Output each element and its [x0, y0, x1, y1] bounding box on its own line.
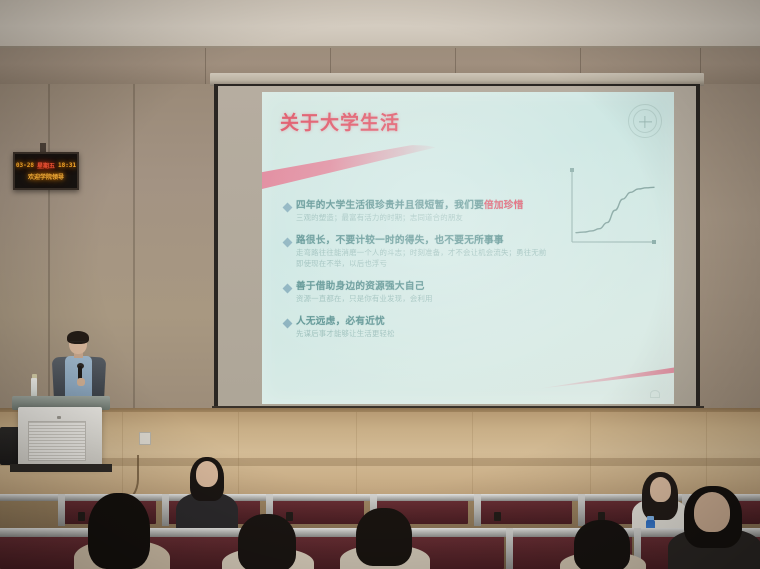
- diamond-bullet-icon: [283, 238, 293, 248]
- bullet-sub-text: 先谋后事才能够让生活更轻松: [296, 329, 552, 339]
- bullet-main-text: 人无远虑，必有近忧: [296, 316, 385, 329]
- led-sign-line-1: 03-28 星期五 18:31: [16, 161, 76, 170]
- seat-rail-post: [578, 494, 585, 526]
- seat-knob: [78, 512, 85, 521]
- diamond-bullet-icon: [283, 284, 293, 294]
- audience-head: [196, 461, 218, 487]
- right-wall-panel: [700, 84, 760, 414]
- seat-rail-post: [58, 494, 65, 526]
- audience-hair: [238, 514, 296, 569]
- pink-swoosh-decoration-bottom: [534, 363, 674, 389]
- presenter-glasses: [70, 341, 86, 345]
- bullet-sub-text: 资源一直都在，只是你有业发现，会利用: [296, 294, 552, 304]
- wall-panel-seam: [133, 84, 135, 414]
- ceiling: [0, 0, 760, 48]
- lectern-base: [10, 464, 112, 472]
- bullet-sub-text: 走弯路往往能消磨一个人的斗志；时刻准备，才不会让机会流失；勇往无前即使现在不举，…: [296, 248, 552, 269]
- diamond-bullet-icon: [283, 319, 293, 329]
- chart-x-axis-arrow: [652, 240, 656, 244]
- pink-swoosh-decoration: [262, 140, 445, 191]
- seat-knob: [494, 512, 501, 521]
- presenter: [47, 333, 109, 403]
- slide-bullet-list: 四年的大学生活很珍贵并且很短暂，我们要倍加珍惜 三观的塑造；最富有活力的时期；志…: [284, 200, 552, 352]
- bullet-item: 四年的大学生活很珍贵并且很短暂，我们要倍加珍惜 三观的塑造；最富有活力的时期；志…: [284, 200, 552, 223]
- slide-page-mark: [650, 390, 660, 398]
- led-time: 18:31: [58, 162, 76, 169]
- audience-head: [694, 492, 730, 532]
- upper-wall-seam: [205, 48, 206, 88]
- bullet-main-highlight: 倍加珍惜: [484, 200, 524, 211]
- chart-curve: [576, 187, 654, 232]
- bullet-main-plain: 四年的大学生活很珍贵并且很短暂，我们要: [296, 200, 484, 211]
- audience-hair: [88, 493, 150, 569]
- lectern-indicator: [57, 416, 61, 419]
- led-date: 03-28: [16, 162, 34, 169]
- s-curve-chart: [564, 166, 660, 254]
- university-seal-logo: [628, 104, 662, 138]
- bullet-main-text: 路很长，不要计较一时的得失，也不要无所事事: [296, 235, 504, 248]
- diamond-bullet-icon: [283, 203, 293, 213]
- s-curve-chart-svg: [564, 166, 660, 254]
- lectern-vent-panel: [28, 421, 86, 461]
- wall-socket: [139, 432, 151, 445]
- seat-rail-post: [474, 494, 481, 526]
- audience-hair: [574, 520, 630, 569]
- seat-knob: [286, 512, 293, 521]
- seat-back: [476, 498, 572, 524]
- bullet-item: 路很长，不要计较一时的得失，也不要无所事事 走弯路往往能消磨一个人的斗志；时刻准…: [284, 235, 552, 269]
- led-information-sign: 03-28 星期五 18:31 欢迎学院领导: [13, 152, 79, 190]
- seat-rail-post: [162, 494, 169, 526]
- chart-y-axis-arrow: [570, 168, 574, 172]
- water-bottle: [31, 378, 37, 397]
- bullet-sub-text: 三观的塑造；最富有活力的时期；志同道合的朋友: [296, 213, 552, 223]
- bullet-main-text: 四年的大学生活很珍贵并且很短暂，我们要倍加珍惜: [296, 200, 524, 213]
- slide-title: 关于大学生活: [280, 108, 400, 135]
- presentation-slide: 关于大学生活 四年的大学生活很珍贵并且很短暂，我们要倍加珍惜 三观的塑造；最富有…: [262, 92, 674, 404]
- bullet-main-text: 善于借助身边的资源强大自己: [296, 281, 425, 294]
- bullet-item: 善于借助身边的资源强大自己 资源一直都在，只是你有业发现，会利用: [284, 281, 552, 304]
- led-weekday: 星期五: [37, 161, 55, 170]
- bullet-item: 人无远虑，必有近忧 先谋后事才能够让生活更轻松: [284, 316, 552, 339]
- led-sign-line-2: 欢迎学院领导: [28, 172, 64, 181]
- lecture-hall-photo: 03-28 星期五 18:31 欢迎学院领导 关于大学生活: [0, 0, 760, 569]
- seat-rail-post: [506, 528, 513, 569]
- audience-hair: [356, 508, 412, 566]
- presenter-hand: [77, 378, 85, 386]
- audience-head: [650, 477, 671, 502]
